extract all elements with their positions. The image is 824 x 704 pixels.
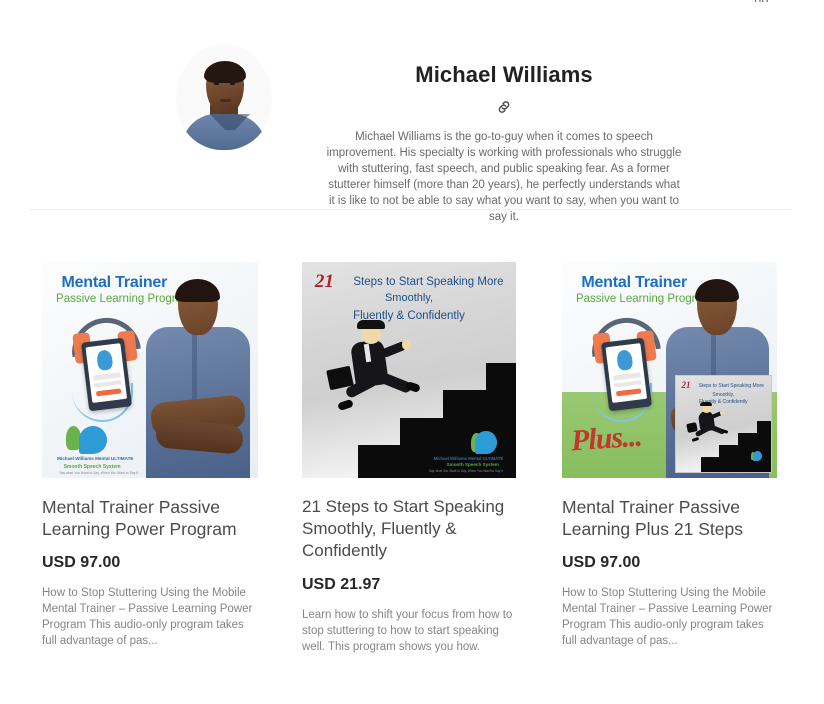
product-image-link[interactable]: Mental Trainer Passive Learning Program [42, 262, 258, 478]
product-title[interactable]: 21 Steps to Start Speaking Smoothly, Flu… [302, 496, 516, 562]
brand-logo-line2: Smooth Speech System [64, 464, 121, 470]
section-divider [30, 209, 791, 210]
form-field-2 [614, 380, 642, 388]
product-price: USD 97.00 [562, 554, 777, 572]
stair-step [701, 457, 720, 471]
link-chain-icon [496, 98, 512, 115]
portrait-hair [175, 279, 220, 302]
hand [402, 339, 411, 349]
portrait-hair [695, 279, 740, 302]
author-bio: Michael Williams is the go-to-guy when i… [324, 129, 684, 225]
author-name: Michael Williams [300, 62, 708, 88]
product-description: How to Stop Stuttering Using the Mobile … [42, 585, 258, 649]
inset-cover-art: 21 Steps to Start Speaking More Smoothly… [676, 376, 771, 471]
plus-label: Plus... [569, 420, 642, 459]
brand-logo-line1: Michael Williams Mental ULTIMATE [57, 456, 133, 461]
product-image-link[interactable]: 21 Steps to Start Speaking More Smoothly… [302, 262, 516, 478]
cover-line1: Steps to Start Speaking More [353, 276, 503, 288]
product-title[interactable]: Mental Trainer Passive Learning Plus 21 … [562, 496, 777, 540]
shoe-back [691, 437, 698, 442]
phone-icon [601, 337, 652, 411]
hat [700, 402, 712, 406]
businessman-icon [328, 318, 426, 430]
inset-21-steps-cover: 21 Steps to Start Speaking More Smoothly… [675, 375, 772, 472]
suit-body [350, 338, 389, 387]
cta-button-graphic [616, 388, 641, 397]
product-card[interactable]: 21 Steps to Start Speaking More Smoothly… [302, 262, 516, 655]
brand-logo-line1: Michael Williams Mental ULTIMATE [434, 456, 504, 461]
avatar-eye-right [230, 82, 235, 85]
phone-icon [81, 337, 132, 411]
hand [720, 411, 724, 415]
inset-line1: Steps to Start Speaking More [699, 383, 764, 389]
brand-logo-bubble-icon [79, 426, 107, 454]
form-field-1 [93, 372, 121, 380]
hat [357, 320, 385, 329]
avatar-mouth [220, 99, 231, 102]
product-card[interactable]: Mental Trainer Passive Learning Program [562, 262, 777, 649]
product-price: USD 21.97 [302, 576, 516, 594]
avatar-image [176, 44, 272, 150]
product-body: 21 Steps to Start Speaking Smoothly, Flu… [302, 478, 516, 655]
top-cut-text: ng [754, 0, 769, 2]
cover-number: 21 [315, 271, 334, 293]
product-card[interactable]: Mental Trainer Passive Learning Program [42, 262, 258, 649]
page-root: ng Michael Williams M [0, 0, 824, 704]
brand-logo-bubble-icon [475, 431, 496, 455]
avatar [176, 38, 272, 156]
user-avatar-icon [616, 349, 633, 370]
mental-trainer-cover: Mental Trainer Passive Learning Program [42, 262, 258, 478]
product-description: How to Stop Stuttering Using the Mobile … [562, 585, 777, 649]
21-steps-cover: 21 Steps to Start Speaking More Smoothly… [302, 262, 516, 478]
author-website-link[interactable] [300, 98, 708, 116]
product-body: Mental Trainer Passive Learning Power Pr… [42, 478, 258, 649]
stair-step [358, 445, 401, 478]
product-body: Mental Trainer Passive Learning Plus 21 … [562, 478, 777, 649]
form-field-1 [613, 372, 641, 380]
form-field-2 [94, 380, 122, 388]
brand-logo-line2: Smooth Speech System [447, 462, 499, 467]
brand-logo-line3: Say what You Want to Say, When You Want … [429, 469, 503, 473]
product-title[interactable]: Mental Trainer Passive Learning Power Pr… [42, 496, 258, 540]
cover-line2: Smoothly, [302, 292, 516, 304]
user-avatar-icon [96, 349, 113, 370]
product-description: Learn how to shift your focus from how t… [302, 607, 516, 655]
author-header: Michael Williams Michael Williams is the… [0, 24, 824, 196]
inset-number: 21 [682, 380, 691, 390]
mental-trainer-plus-21-steps-cover: Mental Trainer Passive Learning Program [562, 262, 777, 478]
brand-logo-line3: Say what You Want to Say, When You Want … [59, 471, 138, 475]
product-price: USD 97.00 [42, 554, 258, 572]
inset-line2: Smoothly, [676, 392, 771, 398]
stair-step [757, 421, 771, 472]
product-image-link[interactable]: Mental Trainer Passive Learning Program [562, 262, 777, 478]
shoe-back [337, 399, 353, 411]
phone-screen [606, 343, 647, 403]
phone-screen [86, 343, 127, 403]
inset-businessman-icon [687, 401, 731, 450]
avatar-eye-left [214, 82, 219, 85]
cover-portrait [141, 271, 258, 478]
cta-button-graphic [96, 388, 121, 397]
